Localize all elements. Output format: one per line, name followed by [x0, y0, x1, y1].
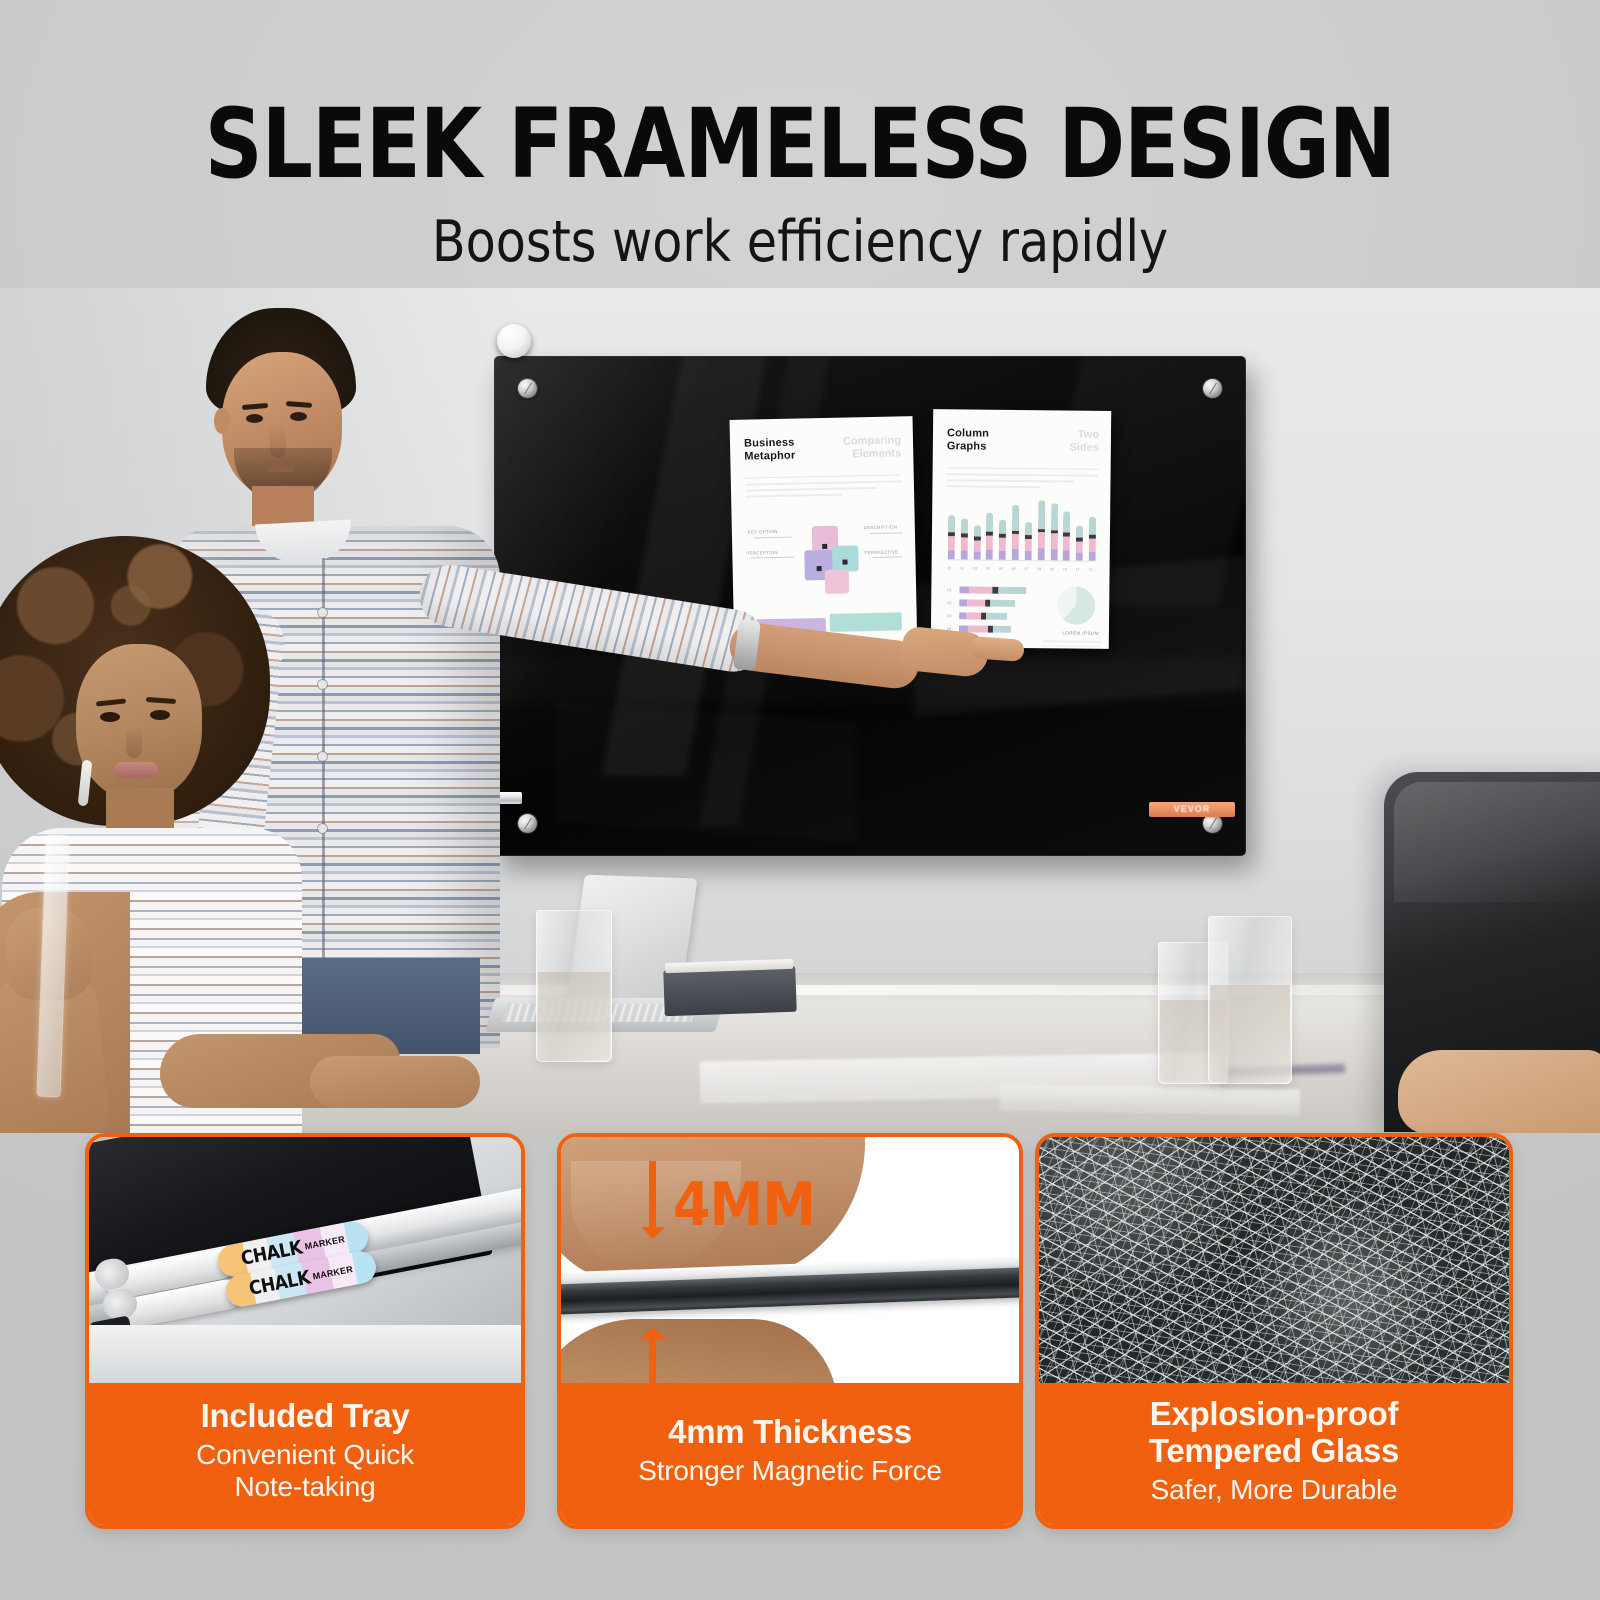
card-3-caption: Explosion-proof Tempered Glass Safer, Mo…: [1039, 1383, 1509, 1525]
feature-card-tempered-glass[interactable]: Explosion-proof Tempered Glass Safer, Mo…: [1035, 1133, 1513, 1529]
chart-tick-label: 09: [1050, 567, 1054, 571]
card-2-subtitle: Stronger Magnetic Force: [638, 1455, 942, 1487]
poster-2-ghost-title: Two Sides: [1069, 429, 1099, 456]
chart-column: [1089, 516, 1096, 560]
card-1-subtitle: Convenient Quick Note-taking: [196, 1439, 414, 1504]
card-1-image: CHALK MARKER CHALK MARKER: [89, 1137, 521, 1383]
chart-segment: [973, 541, 980, 552]
arrow-down-icon: [649, 1161, 656, 1237]
hbar-segment: [959, 599, 967, 606]
poster-1-badge: [830, 612, 902, 632]
card-2-title: 4mm Thickness: [668, 1414, 912, 1451]
brand-sticker-label: VEVOR: [1149, 802, 1235, 817]
header-block: SLEEK FRAMELESS DESIGN Boosts work effic…: [0, 0, 1600, 290]
chart-segment: [1038, 533, 1045, 549]
chart-segment: [1012, 534, 1019, 549]
puzzle-piece: [825, 569, 849, 593]
tray-photo-scene: CHALK MARKER CHALK MARKER: [89, 1137, 521, 1383]
chart-segment: [1025, 551, 1032, 560]
card-1-title: Included Tray: [201, 1398, 410, 1435]
poster-1-title: Business Metaphor: [744, 437, 796, 465]
chart-tick-label: 06: [1012, 567, 1016, 571]
chart-segment: [999, 551, 1006, 560]
donut-caption-lines: [1043, 640, 1101, 649]
water-glass: [536, 910, 612, 1062]
chart-tick-label: 07: [1024, 567, 1028, 571]
chart-segment: [961, 538, 968, 551]
card-2-caption: 4mm Thickness Stronger Magnetic Force: [561, 1383, 1019, 1525]
chart-segment: [1089, 552, 1096, 561]
hbar-segment: [990, 600, 1015, 607]
chalk-label-sub: MARKER: [312, 1264, 354, 1282]
chart-column: [999, 519, 1006, 559]
poster-column-graphs: Column Graphs Two Sides 0102030405060708…: [931, 409, 1111, 649]
chart-segment: [999, 519, 1006, 534]
card-3-title-line1: Explosion-proof: [1150, 1395, 1398, 1432]
chart-segment: [1076, 553, 1083, 561]
poster-2-ghost-line2: Sides: [1069, 442, 1098, 454]
chart-tick-label: 03: [973, 567, 977, 571]
card-3-subtitle: Safer, More Durable: [1151, 1474, 1398, 1506]
hbar-label: 01: [947, 587, 959, 592]
card-3-title-line2: Tempered Glass: [1149, 1432, 1399, 1469]
card-1-subtitle-line1: Convenient Quick: [196, 1439, 414, 1470]
chart-segment: [974, 525, 981, 537]
colleague-eye: [150, 710, 170, 720]
chart-segment: [1037, 548, 1044, 560]
chart-segment: [1050, 534, 1057, 550]
chart-segment: [1076, 542, 1083, 553]
chart-axis: [948, 559, 1096, 562]
hbar: [959, 612, 1007, 620]
feature-card-included-tray[interactable]: CHALK MARKER CHALK MARKER Included Tray …: [85, 1133, 525, 1529]
chart-segment: [1012, 505, 1019, 531]
chart-tick-label: 05: [999, 567, 1003, 571]
chart-column: [1012, 505, 1020, 560]
hbar-row: 01: [947, 585, 1047, 595]
hbar-label: 03: [947, 613, 959, 618]
standoff-screw-icon: [518, 814, 537, 833]
chart-segment: [1063, 537, 1070, 551]
chart-segment: [986, 512, 993, 532]
hbar-segment: [986, 613, 1007, 620]
diagram-node: [822, 544, 827, 549]
poster-2-body-lines: [946, 473, 1098, 493]
chalk-label-main: CHALK: [247, 1266, 312, 1299]
card-1-caption: Included Tray Convenient Quick Note-taki…: [89, 1383, 521, 1525]
chart-column: [948, 515, 955, 559]
puzzle-diagram: [794, 525, 870, 601]
chart-segment: [1025, 539, 1032, 551]
board-reflection: [556, 702, 856, 843]
chart-column: [960, 518, 967, 559]
chart-segment: [1063, 551, 1070, 561]
hbar-row: 02: [947, 598, 1047, 608]
poster-2-title: Column Graphs: [947, 427, 989, 454]
hbar-segment: [959, 586, 969, 593]
round-magnet-icon: [497, 324, 531, 358]
notebook: [663, 966, 797, 1017]
hbar: [959, 586, 1026, 594]
hbar-segment: [967, 599, 985, 606]
chart-segment: [960, 551, 967, 560]
chart-segment: [1012, 549, 1019, 560]
diagram-node: [817, 566, 822, 571]
tempered-glass-photo-scene: [1039, 1137, 1509, 1383]
diagram-node: [842, 560, 847, 565]
colleague-eye: [100, 712, 120, 722]
chart-column: [1063, 511, 1071, 560]
chart-segment: [948, 550, 955, 559]
donut-chart-label: LOREM IPSUM: [1062, 630, 1099, 635]
product-feature-poster: SLEEK FRAMELESS DESIGN Boosts work effic…: [0, 0, 1600, 1600]
leader-label: PERCEPTION: [746, 550, 778, 556]
poster-1-ghost-title: Comparing Elements: [843, 434, 902, 462]
chart-segment: [1025, 522, 1032, 536]
chalk-label-sub: MARKER: [304, 1234, 346, 1252]
card-2-image: 4MM: [561, 1137, 1019, 1383]
chart-segment: [1051, 503, 1058, 530]
leader-label: KEY OPTION: [748, 529, 778, 535]
chart-column: [1037, 500, 1045, 560]
poster-1-title-line1: Business: [744, 437, 795, 450]
chart-tick-label: 08: [1037, 567, 1041, 571]
shattered-glass-texture: [1039, 1137, 1509, 1383]
poster-1-ghost-line1: Comparing: [843, 434, 901, 447]
standoff-screw-icon: [1203, 379, 1222, 398]
poster-2-ghost-line1: Two: [1078, 429, 1099, 441]
water-fill: [1210, 985, 1290, 1082]
chart-column: [1076, 525, 1083, 560]
chart-segment: [1038, 500, 1045, 529]
colleague-lips: [114, 762, 158, 778]
leader-line: [870, 532, 902, 534]
chart-tick-label: 11: [1076, 568, 1080, 572]
feature-card-thickness[interactable]: 4MM 4mm Thickness Stronger Magnetic Forc…: [557, 1133, 1023, 1529]
feature-card-row: CHALK MARKER CHALK MARKER Included Tray …: [0, 1133, 1600, 1600]
hbar-segment: [993, 626, 1011, 633]
hbar: [959, 599, 1015, 607]
hbar-segment: [966, 612, 981, 619]
chart-segment: [948, 515, 955, 533]
hbar-segment: [959, 612, 966, 619]
leader-label: PERSPECTIVE: [864, 549, 898, 555]
poster-2-title-line2: Graphs: [947, 441, 987, 453]
poster-2-divider: [947, 467, 1099, 470]
water-glass: [1208, 916, 1292, 1084]
table-surface: [89, 1325, 521, 1383]
chart-column: [1025, 522, 1032, 560]
hbar-label: 02: [947, 600, 959, 605]
presenter-pointing-finger: [969, 636, 1024, 662]
chart-segment: [1076, 525, 1083, 538]
hbar-segment: [999, 587, 1027, 594]
hbar-segment: [969, 586, 992, 593]
poster-1-ghost-line2: Elements: [852, 448, 901, 461]
thickness-annotation: 4MM: [673, 1175, 815, 1235]
chart-segment: [948, 537, 955, 551]
finger-lower: [561, 1319, 837, 1383]
page-title: SLEEK FRAMELESS DESIGN: [56, 0, 1544, 192]
chart-column: [973, 525, 980, 559]
thickness-photo-scene: 4MM: [561, 1137, 1019, 1383]
chart-segment: [961, 518, 968, 534]
chart-tick-label: 12: [1089, 568, 1093, 572]
chart-segment: [1089, 516, 1096, 535]
leader-line: [750, 557, 794, 559]
chart-segment: [973, 552, 980, 560]
chart-tick-label: 02: [960, 566, 964, 570]
chart-segment: [1050, 549, 1057, 560]
arrow-up-icon: [649, 1329, 656, 1383]
card-3-title: Explosion-proof Tempered Glass: [1149, 1396, 1399, 1470]
hbar-segment: [968, 625, 988, 632]
leader-line: [754, 537, 792, 539]
chart-segment: [986, 550, 993, 560]
chart-tick-label: 10: [1063, 567, 1067, 571]
hero-scene: VEVOR Business Metaphor Comparing Elemen…: [0, 288, 1600, 1133]
leader-line: [872, 556, 902, 558]
chart-tick-label: 04: [986, 567, 990, 571]
poster-2-title-line1: Column: [947, 427, 989, 439]
chart-segment: [999, 538, 1006, 551]
page-subtitle: Boosts work efficiency rapidly: [32, 192, 1568, 271]
donut-chart: [1057, 586, 1095, 624]
chart-segment: [1089, 539, 1096, 552]
hbar-row: 03: [947, 611, 1047, 621]
card-3-image: [1039, 1137, 1509, 1383]
chart-column: [1050, 503, 1058, 560]
standoff-screw-icon: [518, 379, 537, 398]
leader-label: DESCRIPTION: [864, 524, 897, 530]
poster-1-title-line2: Metaphor: [744, 450, 795, 463]
poster-1-divider: [745, 474, 902, 478]
chart-segment: [1063, 511, 1070, 533]
stacked-column-chart: 010203040506070809101112: [948, 499, 1097, 573]
colleague-hand-on-table-2: [310, 1056, 480, 1108]
brand-sticker: VEVOR: [1149, 802, 1235, 817]
poster-1-body-lines: [745, 480, 902, 501]
person-hand-right-edge: [1398, 1050, 1600, 1133]
table-papers-secondary: [1000, 1084, 1300, 1115]
water-fill: [538, 972, 610, 1060]
chart-segment: [986, 536, 993, 550]
chart-column: [986, 512, 993, 559]
colleague-nose: [126, 726, 142, 758]
chart-tick-label: 01: [948, 566, 952, 570]
card-1-subtitle-line2: Note-taking: [235, 1471, 376, 1502]
presenter-pointing-arm-group: [170, 308, 500, 1048]
